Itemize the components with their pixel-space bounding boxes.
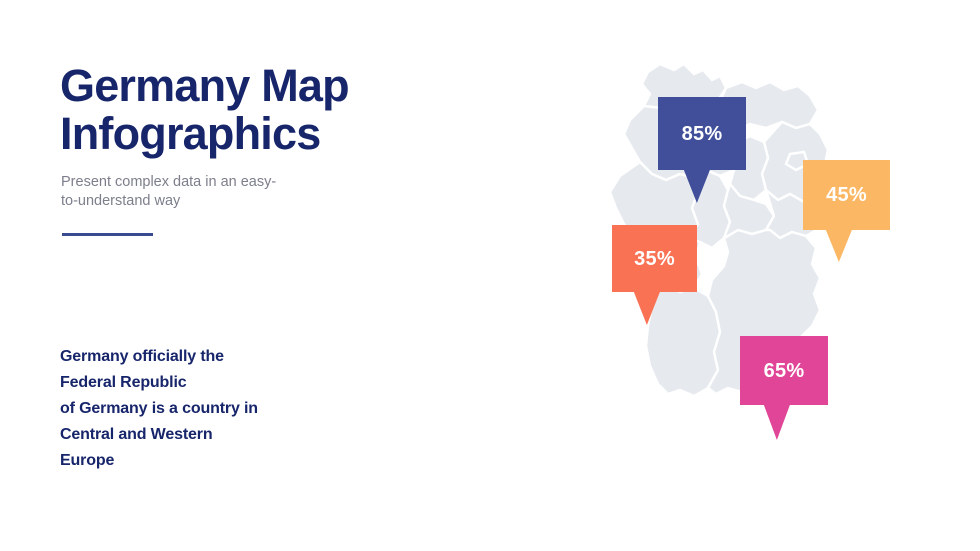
slide-canvas: Germany Map Infographics Present complex…	[0, 0, 980, 551]
map-marker-65[interactable]: 65%	[740, 336, 828, 405]
page-subtitle: Present complex data in an easy- to-unde…	[61, 173, 311, 211]
page-title: Germany Map Infographics	[60, 62, 480, 158]
marker-pointer-65	[764, 405, 790, 440]
marker-label-65: 65%	[764, 361, 805, 381]
title-divider-rule	[62, 233, 153, 236]
map-marker-35[interactable]: 35%	[612, 225, 697, 292]
marker-pointer-35	[634, 292, 660, 325]
marker-label-85: 85%	[682, 124, 723, 144]
marker-label-35: 35%	[634, 249, 675, 269]
map-marker-85[interactable]: 85%	[658, 97, 746, 170]
body-paragraph: Germany officially the Federal Republic …	[60, 344, 360, 474]
marker-pointer-85	[684, 170, 710, 203]
marker-label-45: 45%	[826, 185, 867, 205]
map-marker-45[interactable]: 45%	[803, 160, 890, 230]
marker-pointer-45	[826, 230, 852, 262]
